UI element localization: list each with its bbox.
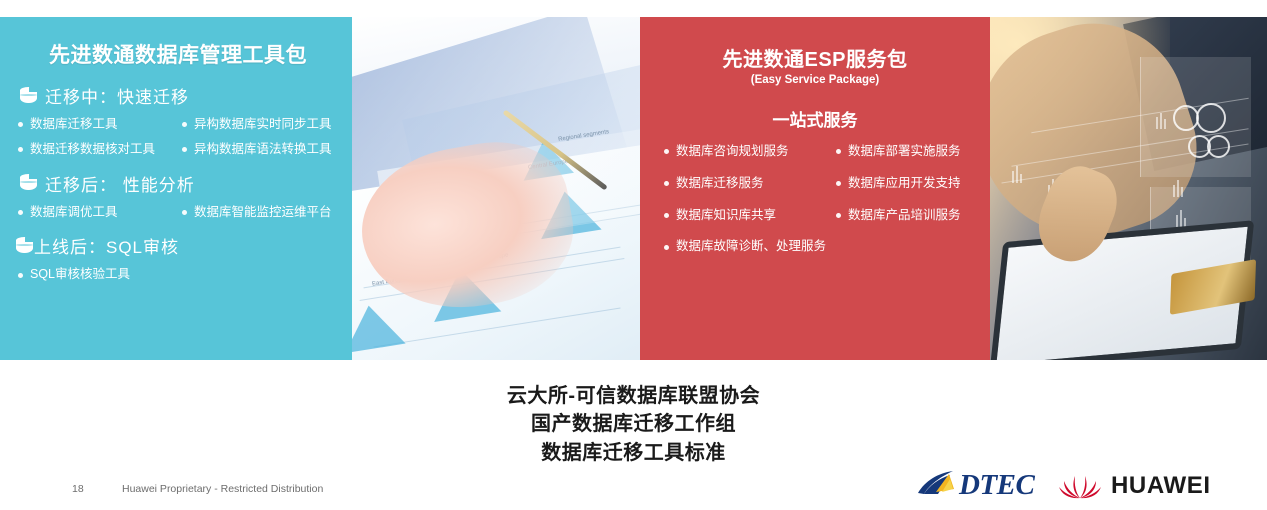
list-item: 异构数据库实时同步工具 bbox=[182, 118, 342, 132]
list-item: 数据库调优工具 bbox=[18, 206, 178, 220]
bullet-dot-icon bbox=[836, 149, 841, 154]
bullet-dot-icon bbox=[664, 245, 669, 250]
list-item: 数据库智能监控运维平台 bbox=[182, 206, 342, 220]
list-item: SQL审核核验工具 bbox=[18, 268, 342, 282]
list-item: 异构数据库语法转换工具 bbox=[182, 143, 342, 157]
list-item: 数据库产品培训服务 bbox=[836, 209, 976, 223]
database-icon bbox=[20, 173, 37, 193]
list-item-label: 数据库智能监控运维平台 bbox=[194, 206, 332, 220]
cyan-panel: 先进数通数据库管理工具包 迁移中：快速迁移 数据库迁移工具 异构数据库实时同步工… bbox=[0, 17, 352, 360]
list-item-label: 数据库咨询规划服务 bbox=[676, 145, 789, 159]
list-item-label: 异构数据库实时同步工具 bbox=[194, 118, 332, 132]
list-item-label: 数据库部署实施服务 bbox=[848, 145, 961, 159]
huawei-wordmark: HUAWEI bbox=[1111, 474, 1211, 498]
cyan-section-heading-after-migration: 迁移后： 性能分析 bbox=[20, 171, 342, 196]
cyan-panel-title: 先进数通数据库管理工具包 bbox=[14, 39, 342, 69]
list-item: 数据库应用开发支持 bbox=[836, 177, 976, 191]
bullet-dot-icon bbox=[182, 210, 187, 215]
page-number: 18 bbox=[72, 483, 84, 495]
database-icon bbox=[16, 236, 33, 256]
list-item: 数据库咨询规划服务 bbox=[664, 145, 836, 159]
bullet-dot-icon bbox=[664, 213, 669, 218]
list-item: 数据库知识库共享 bbox=[664, 209, 836, 223]
bullet-dot-icon bbox=[18, 122, 23, 127]
bottom-line-3: 数据库迁移工具标准 bbox=[0, 439, 1267, 467]
list-item-label: 数据库知识库共享 bbox=[676, 209, 776, 223]
red-panel-subtitle: (Easy Service Package) bbox=[654, 74, 976, 86]
cyan-section-label: 迁移后： 性能分析 bbox=[45, 171, 195, 196]
dtec-wordmark: DTEC bbox=[959, 471, 1034, 500]
bullet-dot-icon bbox=[836, 181, 841, 186]
list-item-label: SQL审核核验工具 bbox=[30, 268, 130, 282]
list-item: 数据迁移数据核对工具 bbox=[18, 143, 178, 157]
list-item-label: 数据迁移数据核对工具 bbox=[30, 143, 155, 157]
bottom-title-block: 云大所-可信数据库联盟协会 国产数据库迁移工作组 数据库迁移工具标准 bbox=[0, 382, 1267, 467]
list-item-label: 异构数据库语法转换工具 bbox=[194, 143, 332, 157]
bullet-dot-icon bbox=[182, 147, 187, 152]
bullet-dot-icon bbox=[664, 149, 669, 154]
list-item-label: 数据库迁移工具 bbox=[30, 118, 118, 132]
finger-touching-tablet-photo bbox=[990, 17, 1267, 360]
bullet-dot-icon bbox=[836, 213, 841, 218]
huawei-flower-icon bbox=[1058, 471, 1102, 501]
red-panel: 先进数通ESP服务包 (Easy Service Package) 一站式服务 … bbox=[640, 17, 990, 360]
banner-strip: 先进数通数据库管理工具包 迁移中：快速迁移 数据库迁移工具 异构数据库实时同步工… bbox=[0, 17, 1267, 360]
cyan-section-label: 迁移中：快速迁移 bbox=[45, 83, 189, 108]
cyan-section-items-migrating: 数据库迁移工具 异构数据库实时同步工具 数据迁移数据核对工具 异构数据库语法转换… bbox=[18, 118, 342, 157]
cyan-section-items-after-migration: 数据库调优工具 数据库智能监控运维平台 bbox=[18, 206, 342, 220]
list-item: 数据库迁移工具 bbox=[18, 118, 178, 132]
huawei-logo: HUAWEI bbox=[1058, 471, 1211, 501]
cyan-section-heading-after-golive: 上线后：SQL审核 bbox=[16, 233, 342, 258]
list-item: 数据库迁移服务 bbox=[664, 177, 836, 191]
list-item-label: 数据库迁移服务 bbox=[676, 177, 764, 191]
list-item-label: 数据库应用开发支持 bbox=[848, 177, 961, 191]
bullet-dot-icon bbox=[18, 210, 23, 215]
cyan-section-heading-migrating: 迁移中：快速迁移 bbox=[20, 83, 342, 108]
bullet-dot-icon bbox=[664, 181, 669, 186]
database-icon bbox=[20, 86, 37, 106]
bullet-dot-icon bbox=[18, 147, 23, 152]
bullet-dot-icon bbox=[18, 273, 23, 278]
red-panel-title: 先进数通ESP服务包 bbox=[654, 43, 976, 72]
cyan-section-items-after-golive: SQL审核核验工具 bbox=[18, 268, 342, 282]
list-item-label: 数据库故障诊断、处理服务 bbox=[676, 240, 826, 254]
dtec-logo: DTEC bbox=[916, 470, 1034, 500]
list-item: 数据库故障诊断、处理服务 bbox=[664, 240, 976, 254]
bullet-dot-icon bbox=[182, 122, 187, 127]
red-panel-items: 数据库咨询规划服务 数据库部署实施服务 数据库迁移服务 数据库应用开发支持 数据… bbox=[664, 145, 976, 254]
list-item-label: 数据库调优工具 bbox=[30, 206, 118, 220]
bottom-line-2: 国产数据库迁移工作组 bbox=[0, 410, 1267, 438]
cyan-section-label: 上线后：SQL审核 bbox=[34, 233, 179, 258]
dtec-swoosh-icon bbox=[916, 470, 958, 500]
list-item-label: 数据库产品培训服务 bbox=[848, 209, 961, 223]
list-item: 数据库部署实施服务 bbox=[836, 145, 976, 159]
bottom-line-1: 云大所-可信数据库联盟协会 bbox=[0, 382, 1267, 410]
footer-confidentiality-note: Huawei Proprietary - Restricted Distribu… bbox=[122, 483, 323, 495]
hand-writing-on-charts-photo: Regional segments Central Europe West Eu… bbox=[352, 17, 640, 360]
red-panel-heading: 一站式服务 bbox=[654, 106, 976, 131]
